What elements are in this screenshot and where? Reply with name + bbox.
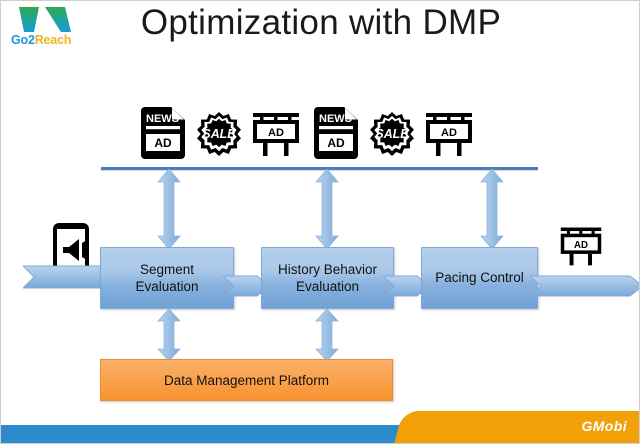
segment-evaluation-label-line2: Evaluation [135,279,198,294]
double-arrow-line-to-segment [156,169,182,249]
svg-text:AD: AD [574,240,588,251]
svg-text:NEWS: NEWS [319,113,352,125]
history-behavior-evaluation-label: History Behavior Evaluation [278,261,377,296]
svg-text:AD: AD [154,136,172,150]
svg-text:SALE: SALE [375,127,409,141]
sale-badge-icon: SALE [370,109,414,159]
process-box-pacing-control[interactable]: Pacing Control [421,247,538,309]
double-arrow-line-to-history [314,169,340,249]
ad-icon-group-right: NEWS AD SALE AD [314,105,474,161]
footer-brand-gmobi: GMobi [581,418,627,434]
process-box-history-behavior-evaluation[interactable]: History Behavior Evaluation [261,247,394,309]
svg-text:AD: AD [268,127,284,139]
svg-text:NEWS: NEWS [146,113,179,125]
ad-billboard-icon: AD [251,111,301,157]
svg-text:SALE: SALE [202,127,236,141]
segment-evaluation-label: Segment Evaluation [135,261,198,296]
news-ad-document-icon: NEWS AD [314,107,358,159]
ad-billboard-icon: AD [559,225,603,267]
segment-evaluation-label-line1: Segment [140,262,194,277]
page-title: Optimization with DMP [1,3,640,43]
history-behavior-label-line1: History Behavior [278,262,377,277]
double-arrow-segment-to-dmp [156,309,182,361]
double-arrow-history-to-dmp [314,309,340,361]
slide-canvas: Go2Reach Optimization with DMP NEWS AD S… [0,0,640,444]
sale-badge-icon: SALE [197,109,241,159]
svg-text:AD: AD [327,136,345,150]
pacing-control-label: Pacing Control [435,269,524,286]
dmp-label: Data Management Platform [164,373,329,388]
double-arrow-line-to-pacing [479,169,505,249]
ad-icon-group-left: NEWS AD SALE AD [141,105,301,161]
svg-text:AD: AD [441,127,457,139]
news-ad-document-icon: NEWS AD [141,107,185,159]
flow-arrow-output [530,273,640,299]
history-behavior-label-line2: Evaluation [296,279,359,294]
data-management-platform-box[interactable]: Data Management Platform [100,359,393,401]
ad-billboard-icon: AD [424,111,474,157]
process-box-segment-evaluation[interactable]: Segment Evaluation [100,247,234,309]
